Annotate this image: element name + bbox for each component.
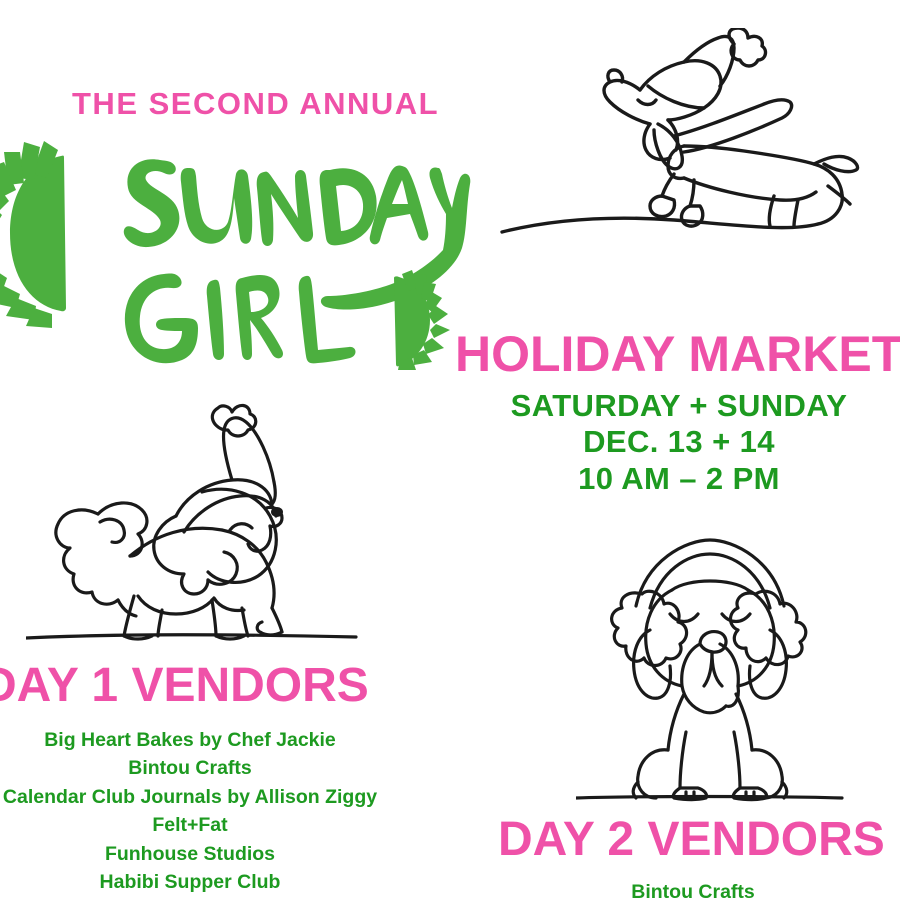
dog-wearing-earmuffs-illustration: [576, 526, 844, 812]
sunburst-small-icon: [372, 270, 452, 370]
day-1-vendor-item: Felt+Fat: [0, 811, 400, 839]
day-2-vendor-item: Bintou Crafts: [478, 878, 900, 900]
fluffy-dog-in-winter-hat-illustration: [26, 396, 394, 648]
event-hours: 10 AM – 2 PM: [455, 461, 900, 497]
event-schedule: SATURDAY + SUNDAY DEC. 13 + 14 10 AM – 2…: [455, 388, 900, 497]
day-1-vendor-item: Habibi Supper Club: [0, 868, 400, 896]
day-1-vendor-item: Big Heart Bakes by Chef Jackie: [0, 726, 400, 754]
eyebrow-text: THE SECOND ANNUAL: [72, 86, 439, 122]
event-title: HOLIDAY MARKET: [455, 325, 900, 383]
day-1-vendor-item: Calendar Club Journals by Allison Ziggy: [0, 783, 400, 811]
day-1-vendor-item: Funhouse Studios: [0, 840, 400, 868]
day-1-vendor-item: Bintou Crafts: [0, 754, 400, 782]
day-2-vendors-heading: DAY 2 VENDORS: [498, 812, 885, 867]
event-dates: DEC. 13 + 14: [455, 424, 900, 460]
sunday-girl-logo: [0, 130, 470, 390]
event-days: SATURDAY + SUNDAY: [455, 388, 900, 424]
day-1-vendors-heading: DAY 1 VENDORS: [0, 658, 369, 713]
sunburst-left-icon: [0, 138, 102, 328]
holiday-market-poster: THE SECOND ANNUAL: [0, 0, 900, 900]
day-1-vendor-list: Big Heart Bakes by Chef JackieBintou Cra…: [0, 726, 400, 900]
dachshund-in-hat-and-scarf-illustration: [498, 28, 900, 260]
day-2-vendor-list: Bintou Crafts: [478, 878, 900, 900]
